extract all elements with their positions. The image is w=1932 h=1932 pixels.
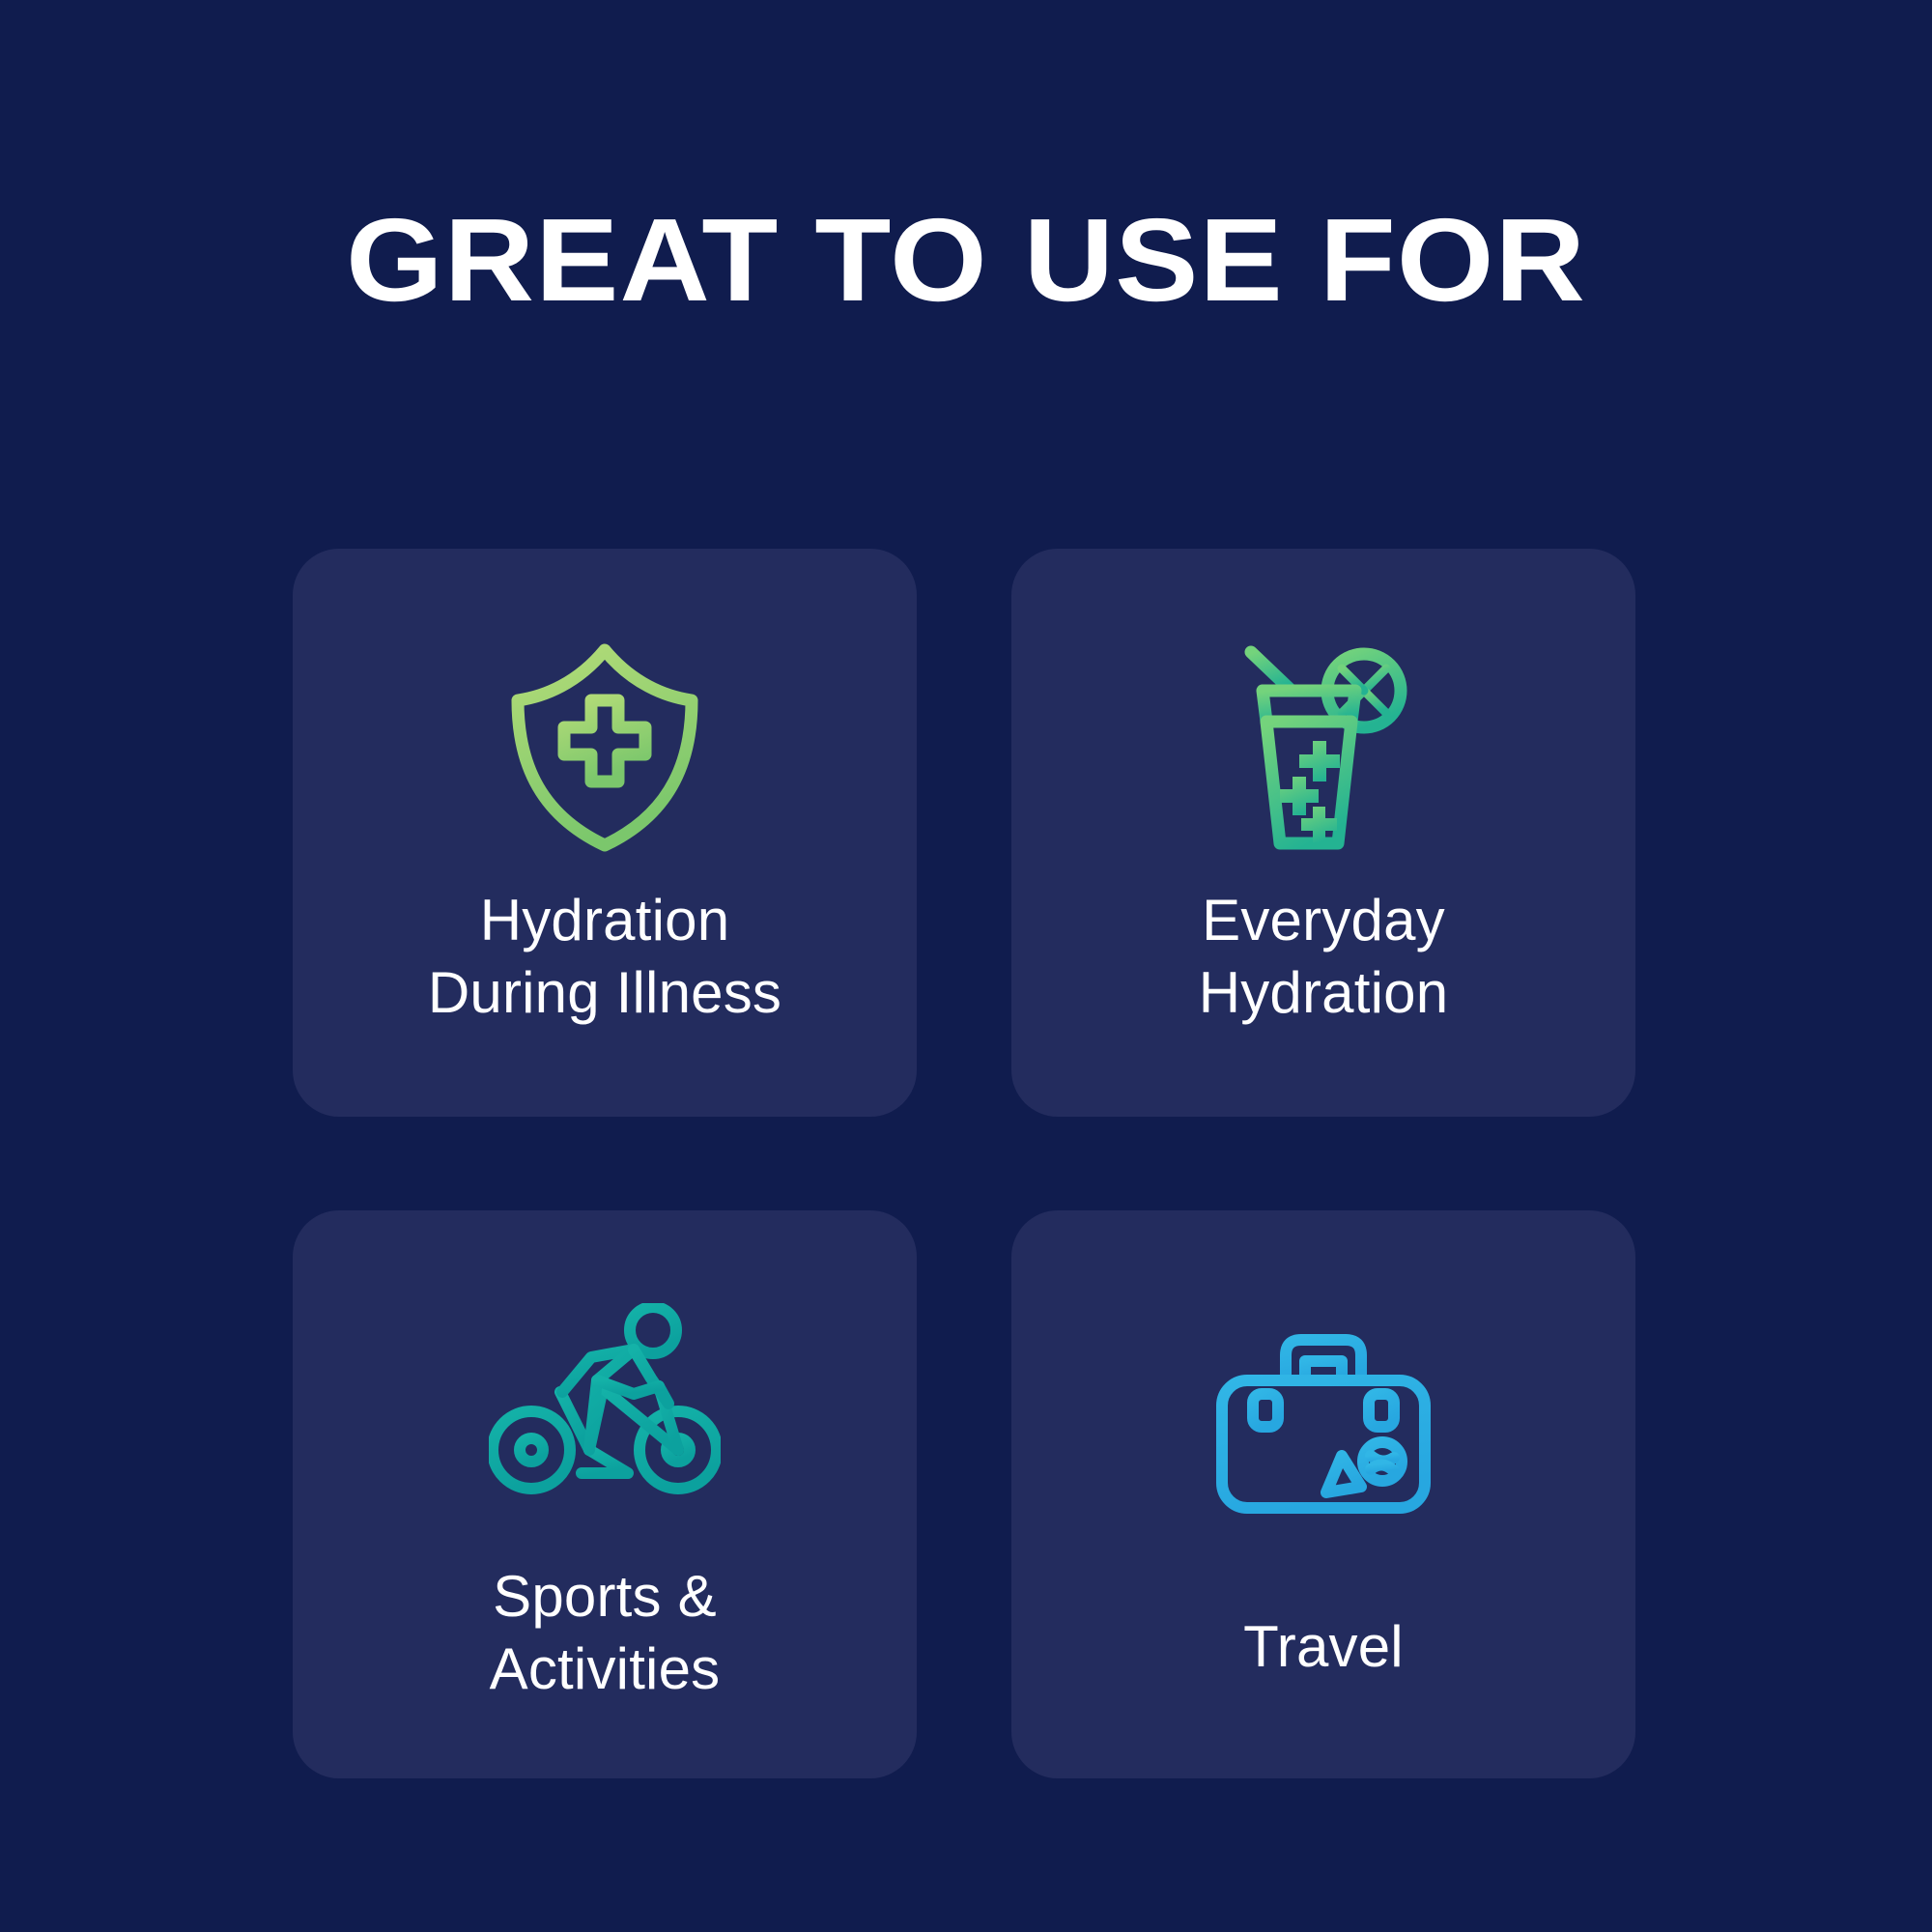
card-label: Travel	[1243, 1610, 1404, 1683]
card-travel[interactable]: Travel	[1011, 1210, 1635, 1778]
benefit-card-grid: Hydration During Illness	[293, 549, 1635, 1778]
drink-glass-lemon-icon	[1232, 637, 1415, 859]
suitcase-travel-icon	[1212, 1307, 1435, 1539]
card-hydration-during-illness[interactable]: Hydration During Illness	[293, 549, 917, 1117]
card-label: Sports & Activities	[490, 1560, 721, 1705]
card-sports-and-activities[interactable]: Sports & Activities	[293, 1210, 917, 1778]
cyclist-bicycle-icon	[489, 1284, 721, 1516]
page-title: GREAT TO USE FOR	[0, 201, 1932, 319]
shield-medical-cross-icon	[508, 637, 701, 859]
poster-root: GREAT TO USE FOR Hydration During Illnes…	[0, 0, 1932, 1932]
card-everyday-hydration[interactable]: Everyday Hydration	[1011, 549, 1635, 1117]
card-label: Hydration During Illness	[428, 884, 781, 1029]
card-label: Everyday Hydration	[1199, 884, 1449, 1029]
